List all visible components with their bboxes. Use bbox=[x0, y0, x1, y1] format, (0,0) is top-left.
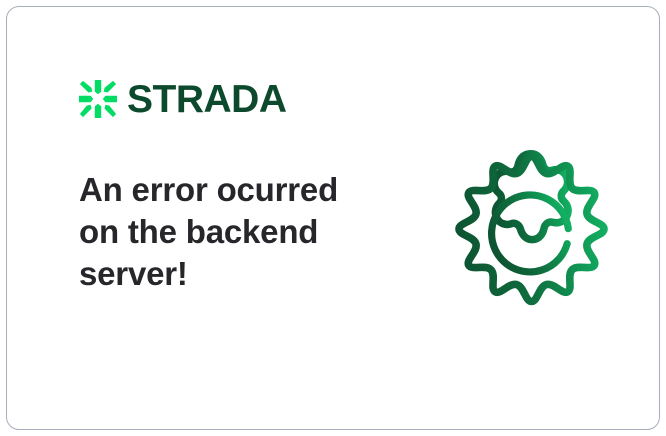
gear-icon bbox=[447, 144, 617, 314]
brand-wordmark: STRADA bbox=[127, 80, 287, 119]
screen: STRADA An error ocurred on the backend s… bbox=[0, 0, 666, 436]
strada-asterisk-icon bbox=[79, 80, 117, 118]
brand-lockup: STRADA bbox=[79, 73, 287, 125]
error-card: STRADA An error ocurred on the backend s… bbox=[6, 6, 660, 430]
error-headline: An error ocurred on the backend server! bbox=[79, 169, 379, 295]
